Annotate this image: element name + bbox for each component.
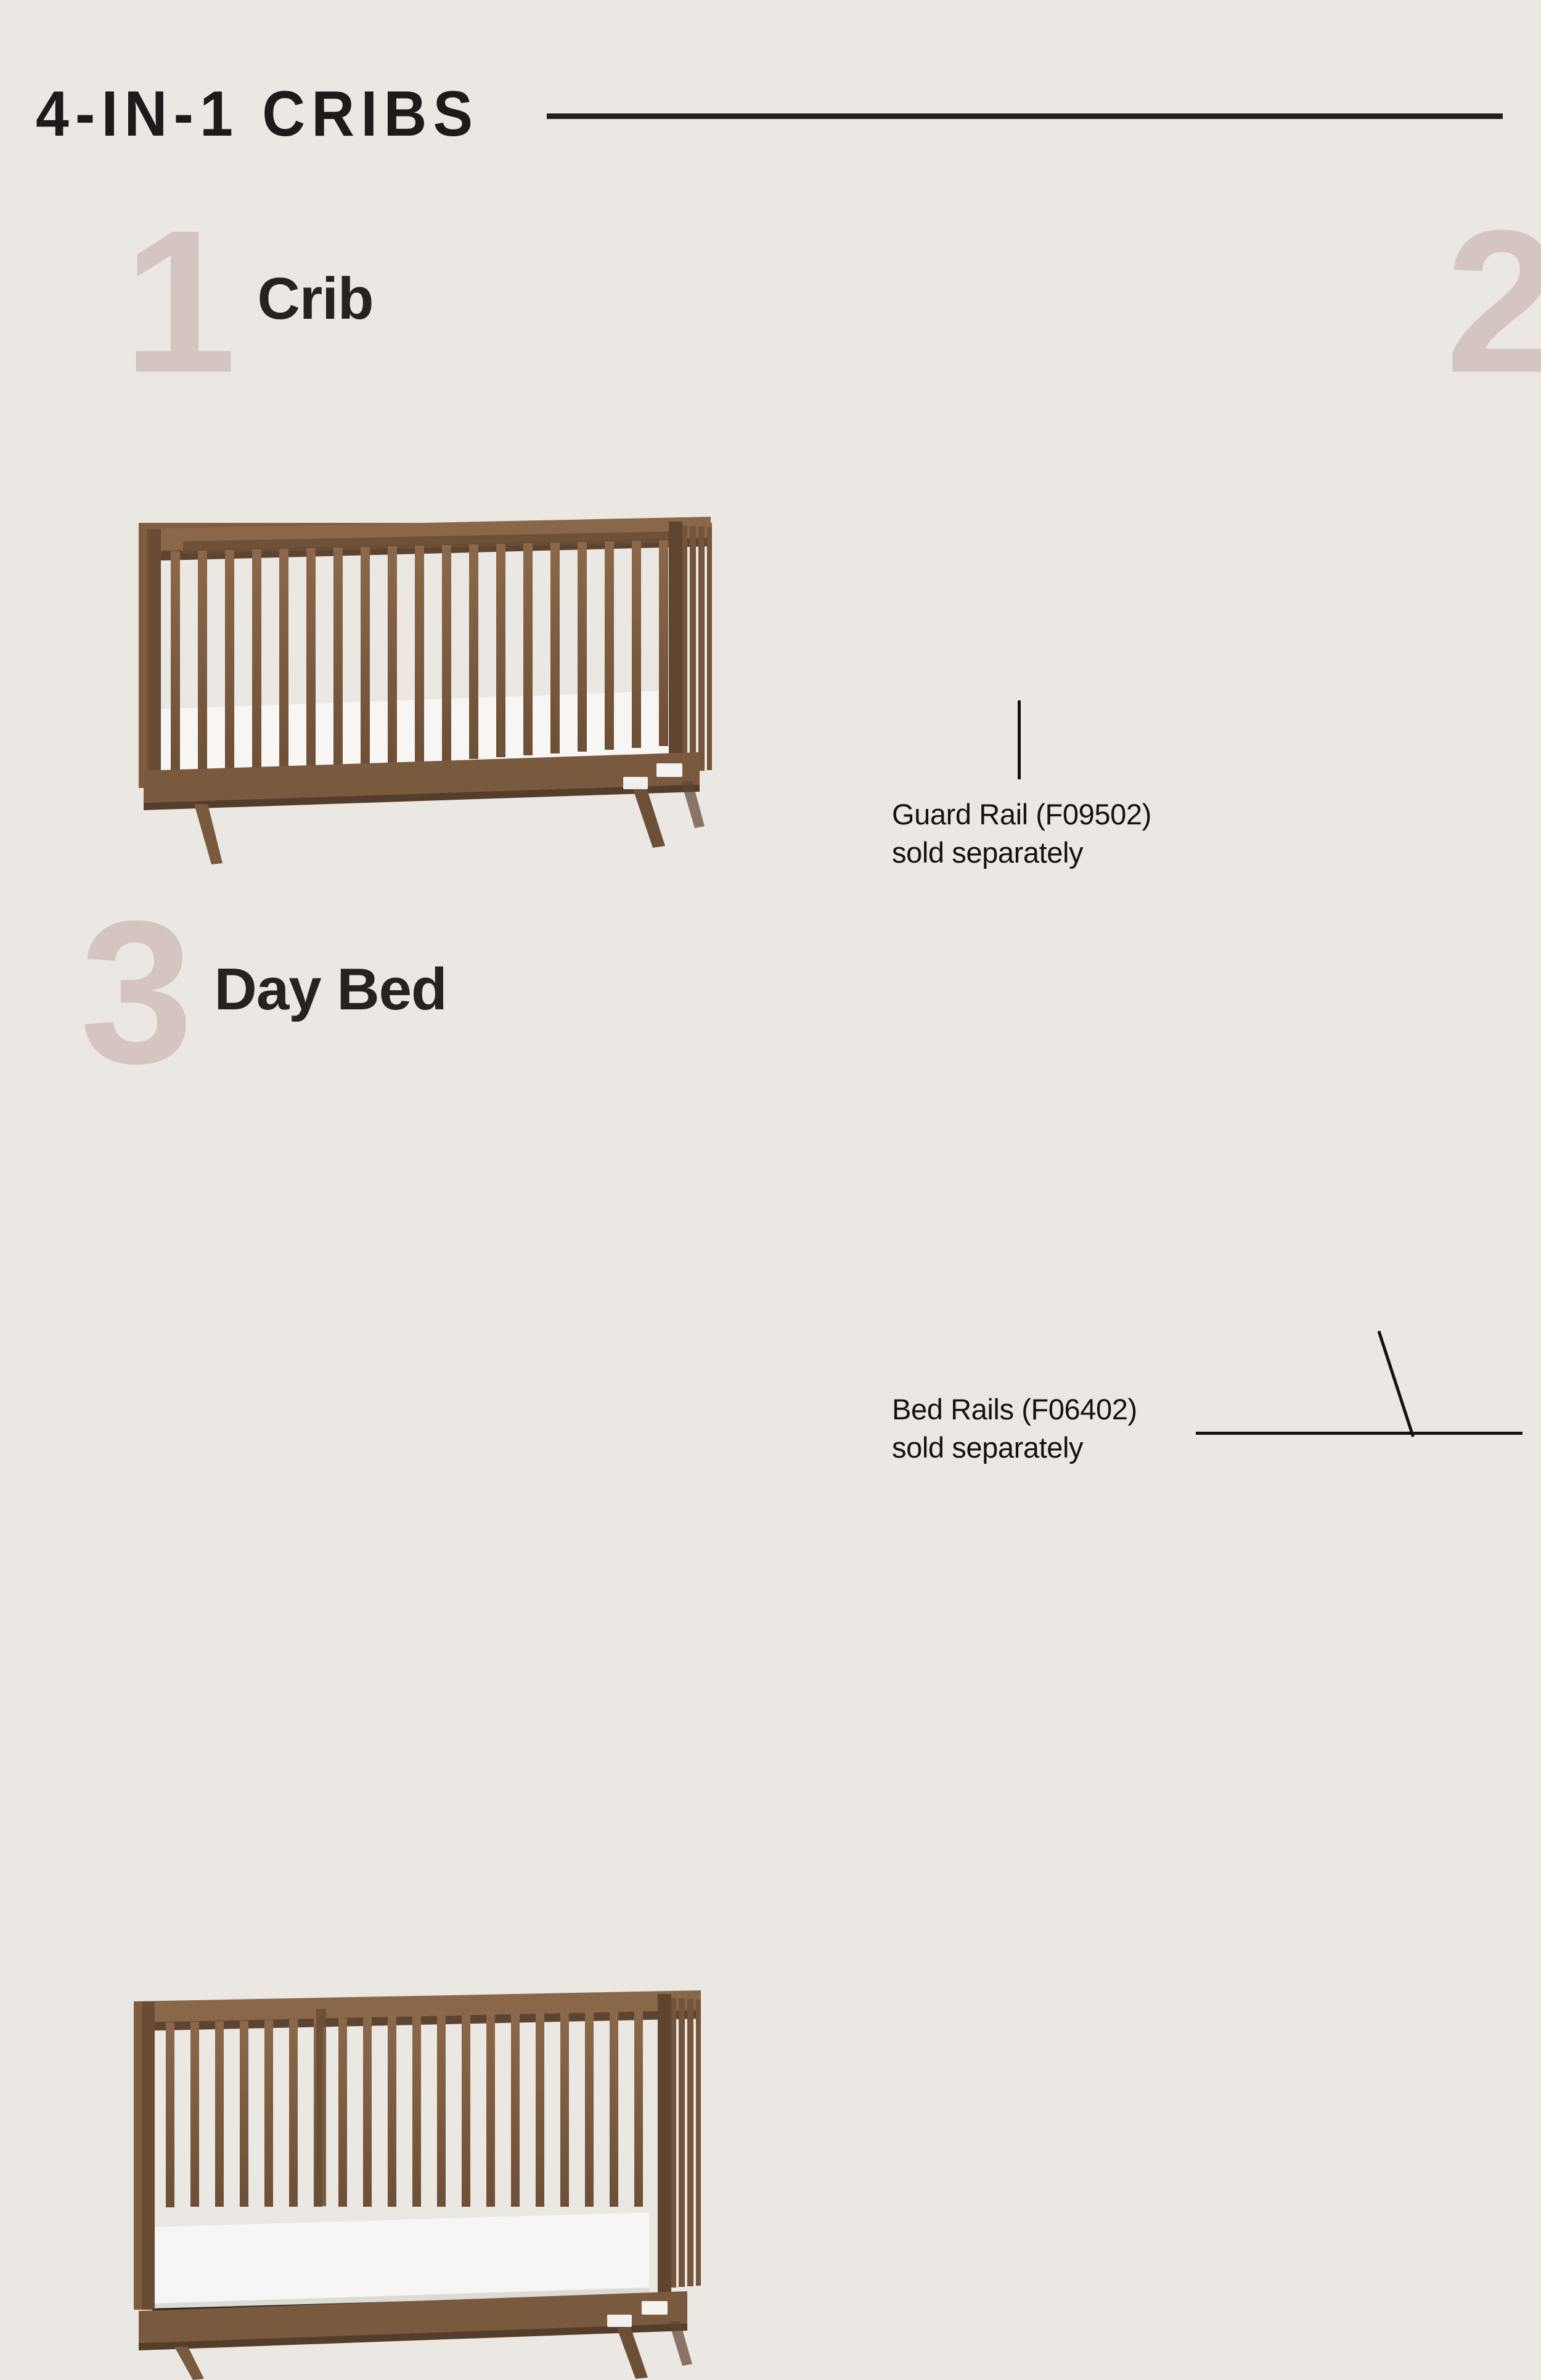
step-name: Crib (258, 269, 374, 329)
step-label-group: 2 Toddler Bed (1445, 222, 1541, 380)
guard-rail-leader-line (1018, 700, 1021, 779)
step-panel-full-bed: 4 Full Bed (770, 876, 1541, 1541)
step-panel-crib: 1 Crib (0, 185, 770, 863)
header-divider-rule (547, 113, 1503, 119)
guard-rail-callout-text: Guard Rail (F09502) sold separately (892, 795, 1151, 872)
bed-rails-leader-line (1196, 1432, 1523, 1435)
bed-rails-callout-text: Bed Rails (F06402) sold separately (892, 1390, 1137, 1467)
step-panel-day-bed: 3 Day Bed (0, 876, 770, 1541)
step-label-group: 3 Day Bed (80, 913, 447, 1071)
step-name: Day Bed (215, 960, 447, 1019)
page-header: 4-IN-1 CRIBS (0, 68, 1541, 160)
step-number: 1 (123, 222, 232, 380)
page-title: 4-IN-1 CRIBS (36, 78, 479, 151)
step-number: 2 (1445, 222, 1541, 380)
step-label-group: 1 Crib (123, 222, 374, 380)
step-panel-toddler-bed: 2 Toddler Bed (770, 185, 1541, 863)
day-bed-icon (114, 1985, 734, 2380)
step-number: 3 (80, 913, 189, 1071)
crib-icon (114, 506, 734, 869)
